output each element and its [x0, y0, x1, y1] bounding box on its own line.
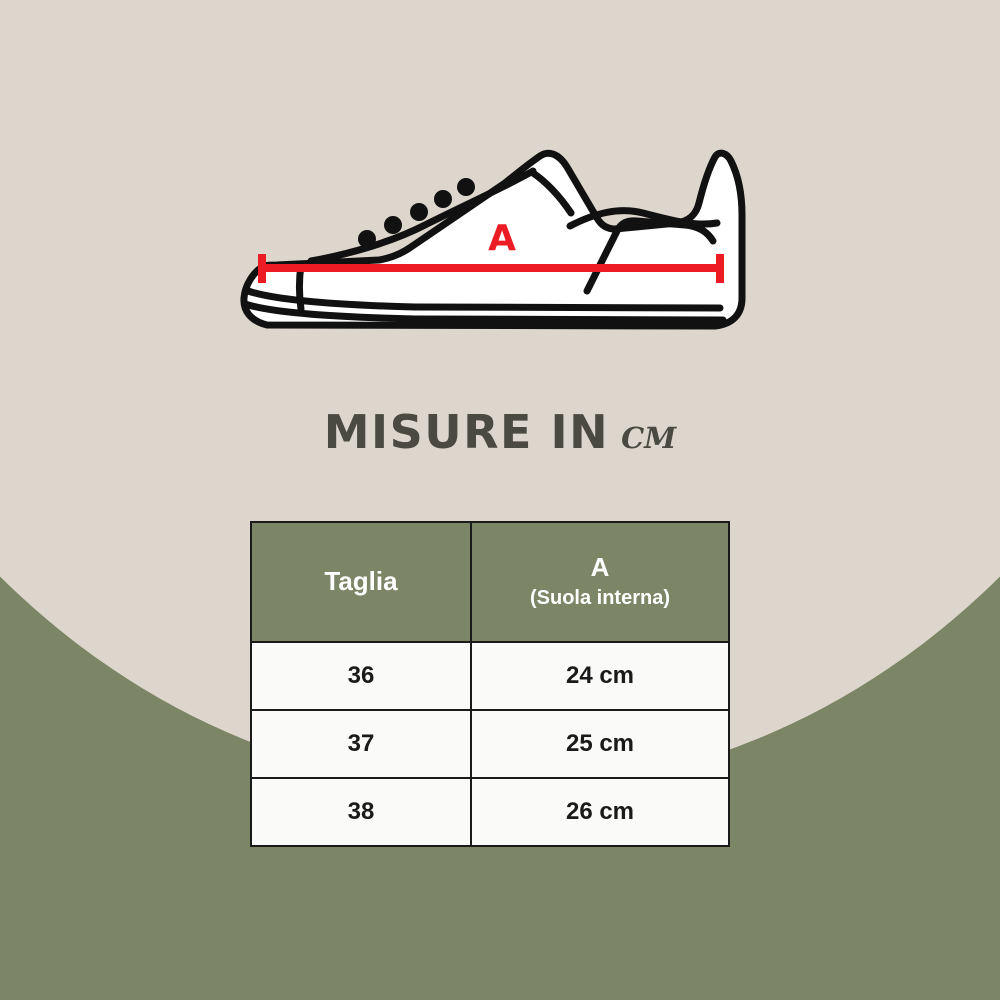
- cell-size: 38: [251, 778, 471, 846]
- cell-length: 26 cm: [471, 778, 729, 846]
- eyelet-3: [410, 203, 428, 221]
- cell-size: 37: [251, 710, 471, 778]
- header-label-length: A: [472, 553, 728, 583]
- sneaker-svg: A: [215, 95, 775, 355]
- header-cell-size: Taglia: [251, 522, 471, 642]
- header-cell-length: A (Suola interna): [471, 522, 729, 642]
- cell-length: 25 cm: [471, 710, 729, 778]
- page-title: MISURE INcm: [0, 405, 1000, 459]
- header-sublabel-length: (Suola interna): [472, 585, 728, 611]
- cell-size: 36: [251, 642, 471, 710]
- eyelet-2: [384, 216, 402, 234]
- eyelet-1: [358, 230, 376, 248]
- page-title-main: MISURE IN: [324, 405, 609, 459]
- eyelet-5: [457, 178, 475, 196]
- table-row: 38 26 cm: [251, 778, 729, 846]
- header-label-size: Taglia: [252, 567, 470, 597]
- size-table-body: 36 24 cm 37 25 cm 38 26 cm: [251, 642, 729, 846]
- page-title-unit: cm: [621, 409, 676, 458]
- size-table: Taglia A (Suola interna) 36 24 cm 37 25 …: [250, 521, 730, 847]
- table-header-row: Taglia A (Suola interna): [251, 522, 729, 642]
- measure-label-a: A: [488, 218, 516, 259]
- table-row: 37 25 cm: [251, 710, 729, 778]
- size-chart-canvas: A MISURE INcm Taglia A (Suola interna): [0, 0, 1000, 1000]
- size-table-head: Taglia A (Suola interna): [251, 522, 729, 642]
- eyelet-4: [434, 190, 452, 208]
- table-row: 36 24 cm: [251, 642, 729, 710]
- sneaker-illustration: A: [215, 95, 775, 355]
- cell-length: 24 cm: [471, 642, 729, 710]
